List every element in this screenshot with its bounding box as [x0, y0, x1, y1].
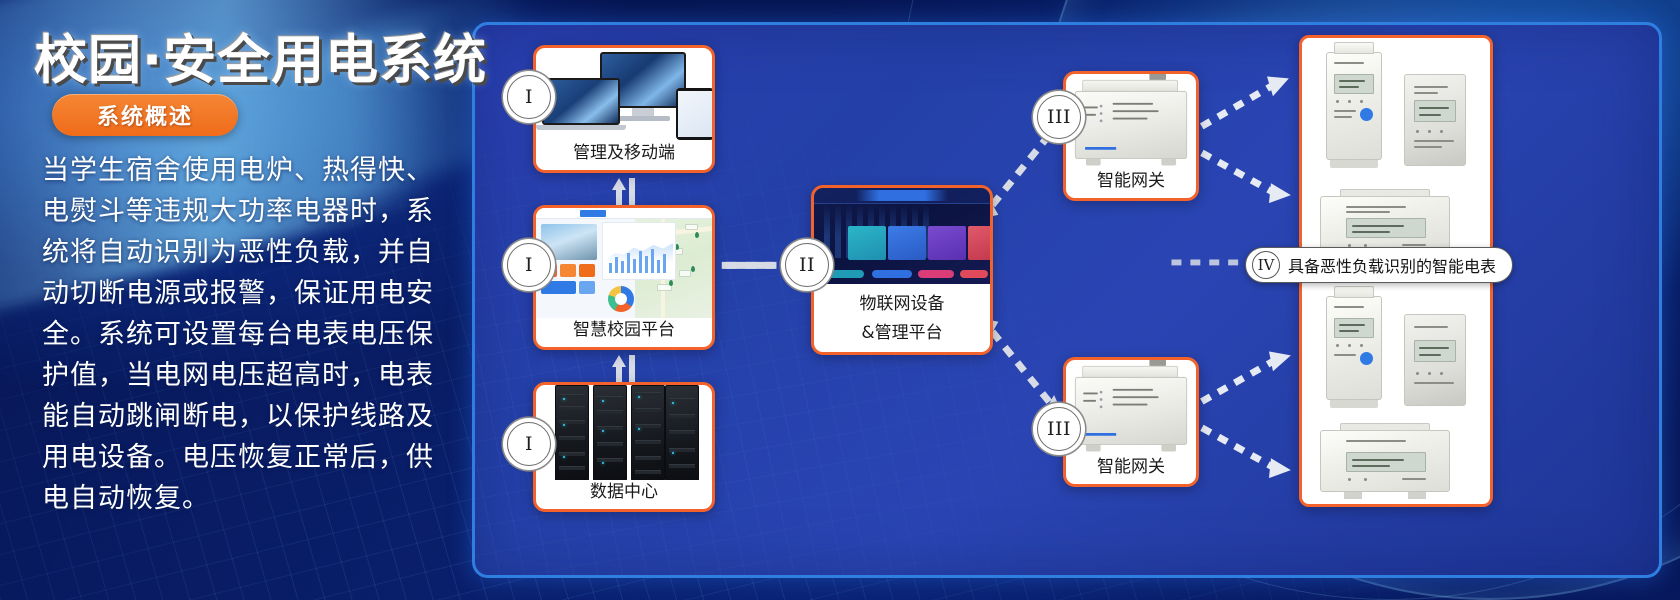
node-datacenter-card[interactable]: 数据中心 [533, 382, 715, 512]
section-badge-overview: 系统概述 [52, 94, 238, 136]
badge-campus: I [507, 243, 551, 287]
overview-paragraph: 当学生宿舍使用电炉、热得快、电熨斗等违规大功率电器时，系统将自动识别为恶性负载，… [42, 150, 434, 519]
iot-dashboard-illustration [814, 188, 990, 284]
din-rail-meter-icon [1320, 430, 1450, 492]
node-management-card[interactable]: 管理及移动端 [533, 45, 715, 173]
node-campus-label: 智慧校园平台 [536, 318, 712, 347]
devices-icon [536, 48, 712, 141]
dashboard-map-icon [536, 208, 712, 318]
node-gateway-top-label: 智能网关 [1066, 169, 1196, 198]
campus-dashboard-illustration [536, 208, 712, 318]
donut-chart-icon [608, 286, 634, 312]
node-campus-card[interactable]: 智慧校园平台 [533, 205, 715, 350]
tablet-icon [676, 88, 712, 140]
section-badge-label: 系统概述 [97, 99, 193, 131]
node-datacenter-label: 数据中心 [536, 480, 712, 509]
laptop-icon [542, 78, 620, 125]
gateway-illustration [1066, 74, 1196, 169]
node-gateway-bottom-label: 智能网关 [1066, 455, 1196, 484]
node-iot-label-line2: &管理平台 [814, 321, 990, 350]
badge-callout: IV [1252, 251, 1280, 279]
three-phase-meter-icon [1404, 74, 1466, 166]
node-gateway-bottom-card[interactable]: 智能网关 [1063, 357, 1199, 487]
gateway-illustration [1066, 360, 1196, 455]
node-iot-card[interactable]: 物联网设备 &管理平台 [811, 185, 993, 355]
single-phase-meter-icon [1326, 52, 1382, 160]
badge-datacenter: I [507, 422, 551, 466]
intro-panel: 校园·安全用电系统 系统概述 当学生宿舍使用电炉、热得快、电熨斗等违规大功率电器… [0, 0, 470, 600]
callout-label: 具备恶性负载识别的智能电表 [1288, 253, 1496, 277]
single-phase-meter-icon [1326, 296, 1382, 400]
node-gateway-top-card[interactable]: 智能网关 [1063, 71, 1199, 201]
badge-iot: II [785, 243, 829, 287]
badge-management: I [507, 75, 551, 119]
architecture-diagram-panel: 管理及移动端 I [472, 22, 1662, 578]
gateway-device-icon [1066, 74, 1196, 169]
server-illustration [536, 385, 712, 480]
iot-dashboard-icon [814, 188, 990, 284]
server-rack-icon [536, 385, 712, 480]
node-management-label: 管理及移动端 [536, 141, 712, 170]
badge-gateway-top: III [1037, 95, 1081, 139]
devices-illustration [536, 48, 712, 141]
callout-smart-meter[interactable]: IV 具备恶性负载识别的智能电表 [1245, 247, 1513, 283]
gateway-device-icon [1066, 360, 1196, 455]
badge-gateway-bottom: III [1037, 407, 1081, 451]
three-phase-meter-icon [1404, 314, 1466, 406]
node-iot-label-line1: 物联网设备 [814, 284, 990, 321]
page-title: 校园·安全用电系统 [34, 18, 487, 94]
